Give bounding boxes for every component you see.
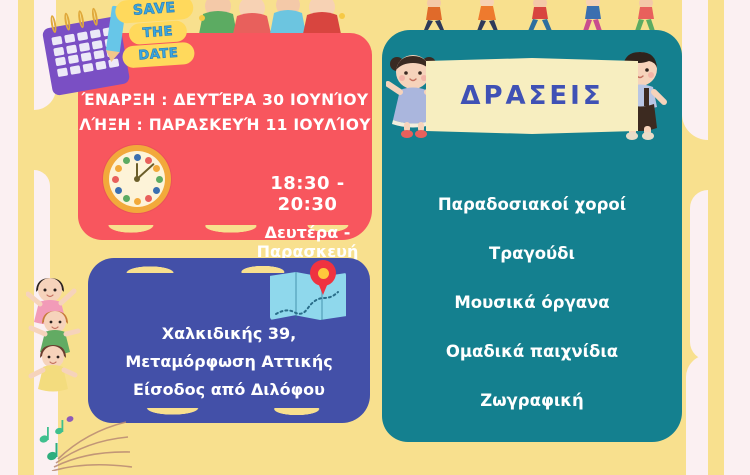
activity-item: Ζωγραφική (382, 376, 682, 425)
calendar-cell (77, 31, 89, 41)
activities-banner: ΔΡΑΣΕΙΣ (426, 58, 638, 134)
start-date-line: ΈΝΑΡΞΗ : ΔΕΥΤΈΡΑ 30 ΙΟΥΝΊΟΥ (78, 88, 372, 113)
calendar-cell (66, 44, 78, 54)
badge-line-save: SAVE (115, 0, 194, 24)
calendar-cell (79, 42, 91, 52)
calendar-cell (64, 34, 76, 44)
badge-line-date: DATE (122, 42, 195, 69)
location-card: Χαλκιδικής 39, Μεταμόρφωση Αττικής Είσοδ… (88, 258, 370, 423)
badge-line-the: THE (128, 20, 187, 45)
address-line-3: Είσοδος από Διλόφου (98, 376, 360, 404)
address-line-1: Χαλκιδικής 39, (98, 320, 360, 348)
panel-edge-notch (686, 355, 708, 475)
time-days: Δευτέρα - Παρασκευή (243, 223, 372, 261)
panel-edge-notch (690, 190, 708, 360)
music-notes-decoration (30, 401, 140, 471)
panel-edge-notch (682, 0, 708, 140)
activity-item: Ομαδικά παιχνίδια (382, 327, 682, 376)
save-the-date-badge: SAVE THE DATE (110, 0, 207, 75)
clock-hour-marker (156, 176, 163, 183)
date-range-text: ΈΝΑΡΞΗ : ΔΕΥΤΈΡΑ 30 ΙΟΥΝΊΟΥ ΛΉΞΗ : ΠΑΡΑΣ… (78, 88, 372, 138)
clock-hour-marker (153, 165, 160, 172)
calendar-cell (91, 39, 103, 49)
clock-center-pin (134, 176, 140, 182)
side-children-illustration (26, 268, 102, 393)
activity-item: Παραδοσιακοί χοροί (382, 180, 682, 229)
calendar-cell (89, 29, 101, 39)
clock-hour-marker (123, 195, 130, 202)
activities-list: Παραδοσιακοί χοροί Τραγούδι Μουσικά όργα… (382, 180, 682, 425)
calendar-cell (55, 57, 67, 67)
clock-hour-marker (115, 187, 122, 194)
map-icon (270, 260, 348, 324)
clock-icon (103, 145, 171, 213)
time-block: 18:30 - 20:30 Δευτέρα - Παρασκευή (243, 173, 372, 261)
clock-hour-marker (145, 195, 152, 202)
calendar-cell (80, 52, 92, 62)
activities-card: ΔΡΑΣΕΙΣ Παραδοσιακοί χοροί Τραγούδι Μουσ… (382, 30, 682, 442)
calendar-cell (53, 46, 65, 56)
pin-center-dot (318, 268, 329, 279)
address-line-2: Μεταμόρφωση Αττικής (98, 348, 360, 376)
calendar-cell (51, 36, 63, 46)
clock-hour-marker (115, 165, 122, 172)
clock-hour-marker (153, 187, 160, 194)
clock-hour-marker (123, 157, 130, 164)
time-hours: 18:30 - 20:30 (243, 173, 372, 215)
end-date-line: ΛΉΞΗ : ΠΑΡΑΣΚΕΥΉ 11 ΙΟΥΛΊΟΥ (78, 113, 372, 138)
calendar-cell (93, 50, 105, 60)
banner-title: ΔΡΑΣΕΙΣ (460, 81, 603, 111)
map-pin-icon (310, 260, 336, 296)
clock-hour-marker (134, 198, 141, 205)
activity-item: Μουσικά όργανα (382, 278, 682, 327)
address-text: Χαλκιδικής 39, Μεταμόρφωση Αττικής Είσοδ… (98, 320, 360, 404)
calendar-cell (68, 54, 80, 64)
activity-item: Τραγούδι (382, 229, 682, 278)
poster-root: ΈΝΑΡΞΗ : ΔΕΥΤΈΡΑ 30 ΙΟΥΝΊΟΥ ΛΉΞΗ : ΠΑΡΑΣ… (0, 0, 750, 475)
clock-hour-marker (112, 176, 119, 183)
clock-hour-marker (134, 154, 141, 161)
clock-hour-marker (145, 157, 152, 164)
